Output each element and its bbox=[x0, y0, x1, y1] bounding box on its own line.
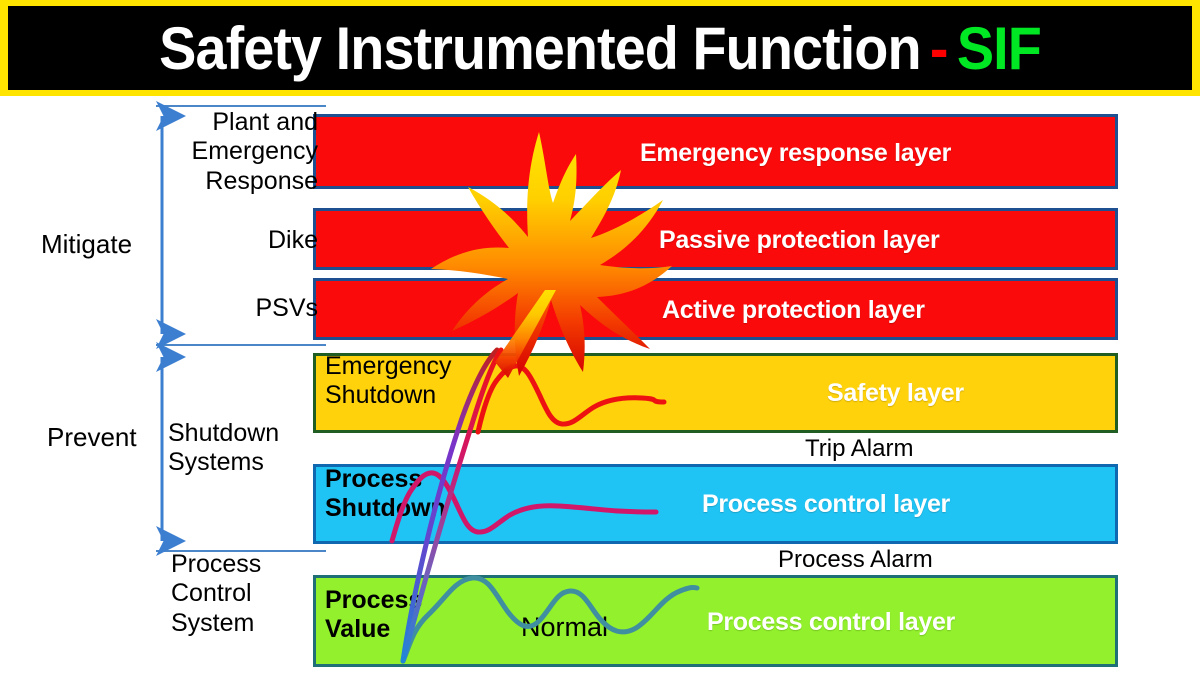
caption-trip-alarm: Trip Alarm bbox=[805, 435, 913, 463]
caption-process-alarm: Process Alarm bbox=[778, 546, 933, 574]
layer-title-process-control-upper: Process control layer bbox=[702, 490, 950, 519]
tier-label-process-control-system: ProcessControlSystem bbox=[118, 550, 318, 638]
slide-canvas: Safety Instrumented Function-SIF Emergen… bbox=[0, 0, 1200, 675]
layer-left-label-process-value: ProcessValue bbox=[325, 586, 422, 644]
tier-label-dike: Dike bbox=[118, 226, 318, 255]
annotation-normal: Normal bbox=[521, 612, 608, 643]
layer-left-label-safety: EmergencyShutdown bbox=[325, 352, 451, 410]
page-title-dash: - bbox=[921, 15, 957, 82]
tier-label-plant-emergency-response: Plant andEmergencyResponse bbox=[118, 108, 318, 196]
title-banner-inner: Safety Instrumented Function-SIF bbox=[8, 6, 1192, 90]
page-title-main: Safety Instrumented Function bbox=[159, 15, 920, 82]
title-banner: Safety Instrumented Function-SIF bbox=[0, 0, 1200, 96]
tier-label-shutdown-systems: ShutdownSystems bbox=[118, 419, 318, 478]
tier-label-psvs: PSVs bbox=[118, 294, 318, 323]
layer-title-active-protection: Active protection layer bbox=[662, 296, 925, 325]
layer-title-passive-protection: Passive protection layer bbox=[659, 226, 939, 255]
layer-title-safety: Safety layer bbox=[827, 379, 964, 408]
layer-title-emergency-response: Emergency response layer bbox=[640, 139, 951, 168]
page-title-accent: SIF bbox=[957, 15, 1041, 82]
layer-left-label-process-shutdown: ProcessShutdown bbox=[325, 465, 446, 523]
page-title: Safety Instrumented Function-SIF bbox=[159, 14, 1041, 83]
layer-title-process-control-lower: Process control layer bbox=[707, 608, 955, 637]
